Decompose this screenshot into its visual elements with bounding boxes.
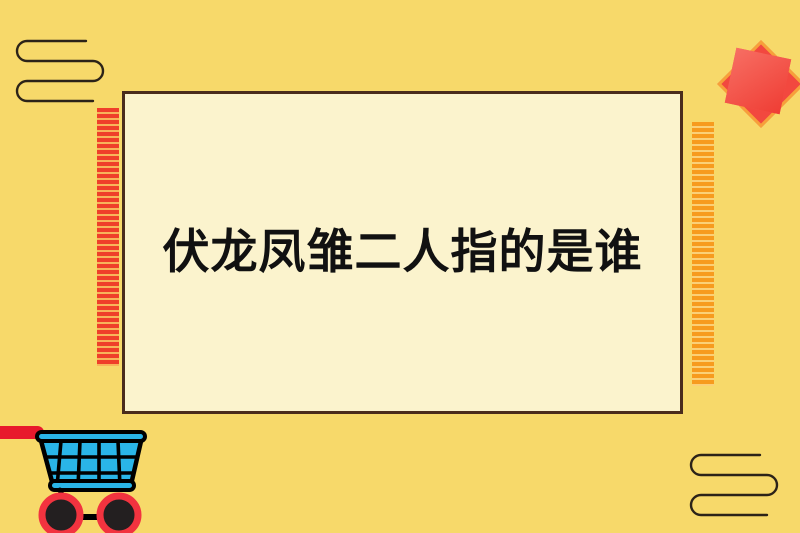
content-card: 伏龙凤雏二人指的是谁 [122, 91, 683, 414]
cart-bottom-rail [50, 481, 134, 490]
orange-striped-bar [692, 122, 714, 386]
red-striped-bar [97, 108, 119, 366]
poster-canvas: 伏龙凤雏二人指的是谁 [0, 0, 800, 533]
star-burst-solid-square [725, 48, 791, 114]
star-burst-icon [716, 42, 800, 120]
cart-wheel-front [42, 496, 80, 533]
serpentine-lines-icon [684, 452, 784, 518]
serpentine-lines-icon [14, 38, 106, 104]
page-title: 伏龙凤雏二人指的是谁 [163, 225, 643, 281]
cart-wheel-rear [100, 496, 138, 533]
shopping-cart-icon [0, 415, 170, 533]
cart-top-rail [37, 432, 145, 441]
